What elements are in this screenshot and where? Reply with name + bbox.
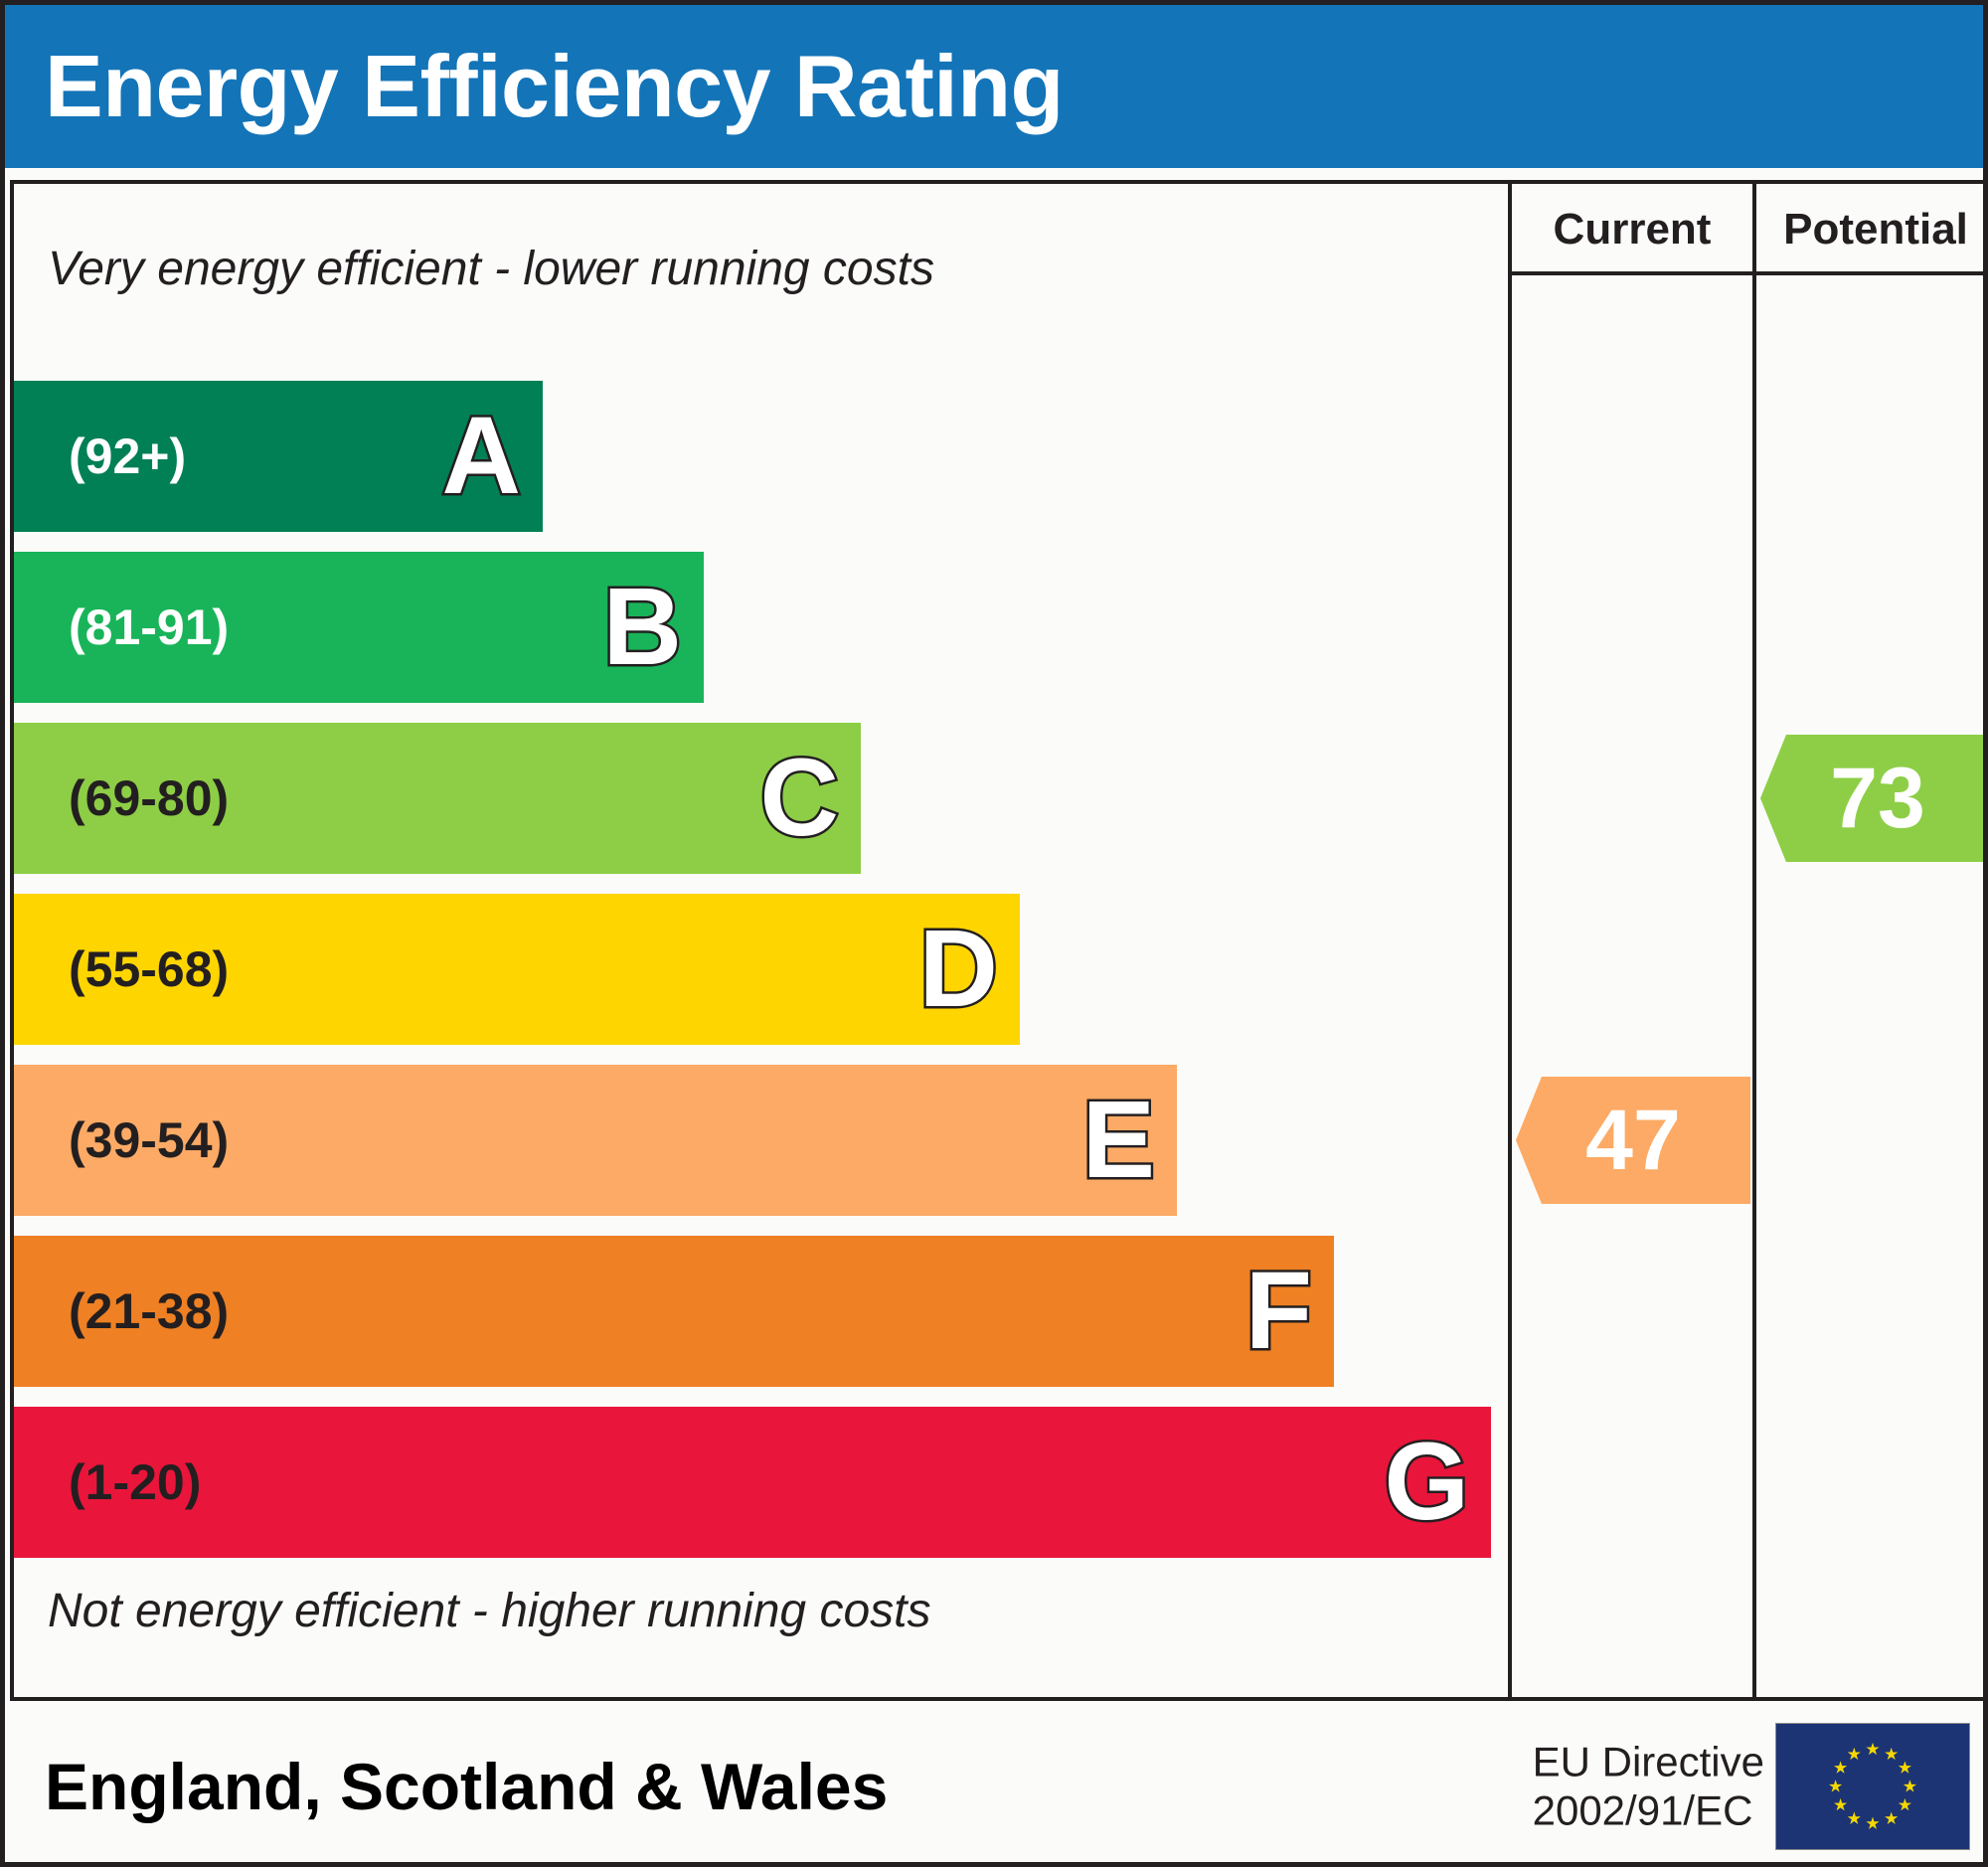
region-label: England, Scotland & Wales <box>45 1754 888 1819</box>
band-letter-f: F <box>1245 1257 1312 1366</box>
band-f: (21-38)F <box>14 1236 1334 1387</box>
band-letter-e: E <box>1082 1086 1155 1195</box>
efficiency-note-bottom: Not energy efficient - higher running co… <box>48 1588 930 1635</box>
page-title: Energy Efficiency Rating <box>45 43 1064 130</box>
column-header-current: Current <box>1512 184 1752 275</box>
eu-flag-icon <box>1775 1723 1970 1850</box>
column-header-potential: Potential <box>1756 184 1988 275</box>
column-header-row: Current Potential <box>1508 184 1984 275</box>
band-letter-g: G <box>1384 1428 1469 1537</box>
band-range-b: (81-91) <box>69 602 229 652</box>
band-letter-b: B <box>603 573 682 682</box>
potential-rating-marker: 73 <box>1760 735 1988 862</box>
bands-area: Very energy efficient - lower running co… <box>14 184 1508 1697</box>
band-c: (69-80)C <box>14 723 861 874</box>
band-letter-d: D <box>919 915 998 1024</box>
band-b: (81-91)B <box>14 552 704 703</box>
band-range-a: (92+) <box>69 431 186 481</box>
band-range-e: (39-54) <box>69 1115 229 1165</box>
eu-directive-line2: 2002/91/EC <box>1533 1786 1764 1836</box>
band-letter-c: C <box>760 744 839 853</box>
current-rating-marker: 47 <box>1516 1077 1750 1204</box>
band-range-f: (21-38) <box>69 1286 229 1336</box>
band-d: (55-68)D <box>14 894 1020 1045</box>
band-letter-a: A <box>442 402 521 511</box>
efficiency-note-top: Very energy efficient - lower running co… <box>48 246 934 293</box>
footer: England, Scotland & Wales EU Directive 2… <box>10 1705 1988 1867</box>
band-g: (1-20)G <box>14 1407 1491 1558</box>
energy-efficiency-certificate: Energy Efficiency Rating Current Potenti… <box>0 0 1988 1867</box>
band-e: (39-54)E <box>14 1065 1177 1216</box>
column-divider-potential <box>1752 184 1756 1697</box>
title-bar: Energy Efficiency Rating <box>5 5 1988 168</box>
rating-table: Current Potential Very energy efficient … <box>10 180 1988 1701</box>
band-range-d: (55-68) <box>69 944 229 994</box>
band-a: (92+)A <box>14 381 543 532</box>
eu-directive-text: EU Directive 2002/91/EC <box>1533 1737 1764 1835</box>
band-range-c: (69-80) <box>69 773 229 823</box>
band-range-g: (1-20) <box>69 1457 201 1507</box>
eu-directive-line1: EU Directive <box>1533 1737 1764 1786</box>
column-divider-current <box>1508 184 1512 1697</box>
